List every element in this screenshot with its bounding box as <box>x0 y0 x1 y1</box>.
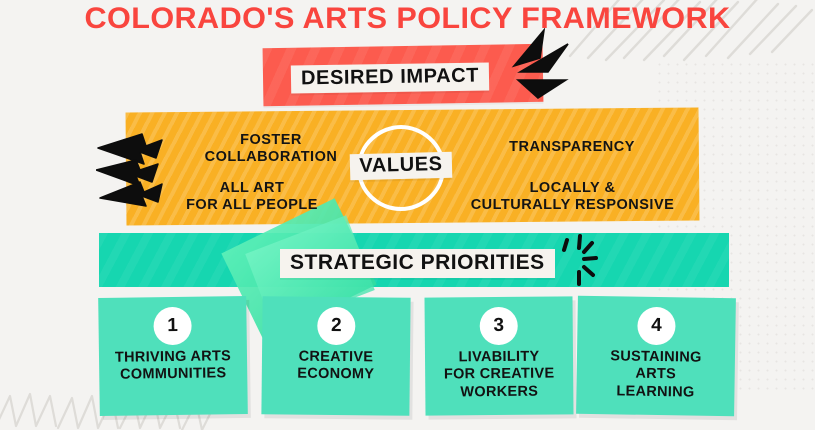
priority-card-3[interactable]: 3 LIVABILITY FOR CREATIVE WORKERS <box>424 296 573 415</box>
priority-card-1-number: 1 <box>153 307 192 346</box>
strategic-priorities-label: STRATEGIC PRIORITIES <box>290 252 545 274</box>
infographic-canvas: COLORADO'S ARTS POLICY FRAMEWORK DESIRED… <box>0 0 815 430</box>
desired-impact-label: DESIRED IMPACT <box>301 66 479 90</box>
priority-card-1-label: THRIVING ARTS COMMUNITIES <box>103 348 243 385</box>
priority-card-3-number: 3 <box>480 307 518 345</box>
priority-card-4-label: SUSTAINING ARTS LEARNING <box>580 348 731 403</box>
strategic-priorities-label-wrapper: STRATEGIC PRIORITIES <box>280 249 555 278</box>
priority-card-2-label: CREATIVE ECONOMY <box>266 348 406 384</box>
value-item-transparency: TRANSPARENCY <box>467 139 677 156</box>
values-label: VALUES <box>359 154 443 177</box>
value-item-foster-collaboration: FOSTER COLLABORATION <box>186 132 356 166</box>
desired-impact-label-wrapper: DESIRED IMPACT <box>291 62 489 93</box>
priority-cards: 1 THRIVING ARTS COMMUNITIES 2 CREATIVE E… <box>99 297 735 419</box>
values-circle: VALUES <box>355 124 447 212</box>
priority-card-2[interactable]: 2 CREATIVE ECONOMY <box>261 296 410 416</box>
priority-card-2-number: 2 <box>317 307 355 345</box>
values-label-wrapper: VALUES <box>342 152 461 181</box>
value-item-locally-culturally-responsive: LOCALLY & CULTURALLY RESPONSIVE <box>460 180 685 214</box>
priority-card-1[interactable]: 1 THRIVING ARTS COMMUNITIES <box>98 296 248 416</box>
values-highlight: VALUES <box>350 152 452 180</box>
priority-card-4-number: 4 <box>637 307 676 346</box>
priority-card-3-label: LIVABILITY FOR CREATIVE WORKERS <box>429 348 569 401</box>
value-item-all-art-for-all-people: ALL ART FOR ALL PEOPLE <box>157 180 347 214</box>
page-title: COLORADO'S ARTS POLICY FRAMEWORK <box>0 2 815 36</box>
desired-impact-highlight: DESIRED IMPACT <box>291 62 489 93</box>
priority-card-4[interactable]: 4 SUSTAINING ARTS LEARNING <box>576 296 736 416</box>
strategic-priorities-highlight: STRATEGIC PRIORITIES <box>280 249 555 278</box>
